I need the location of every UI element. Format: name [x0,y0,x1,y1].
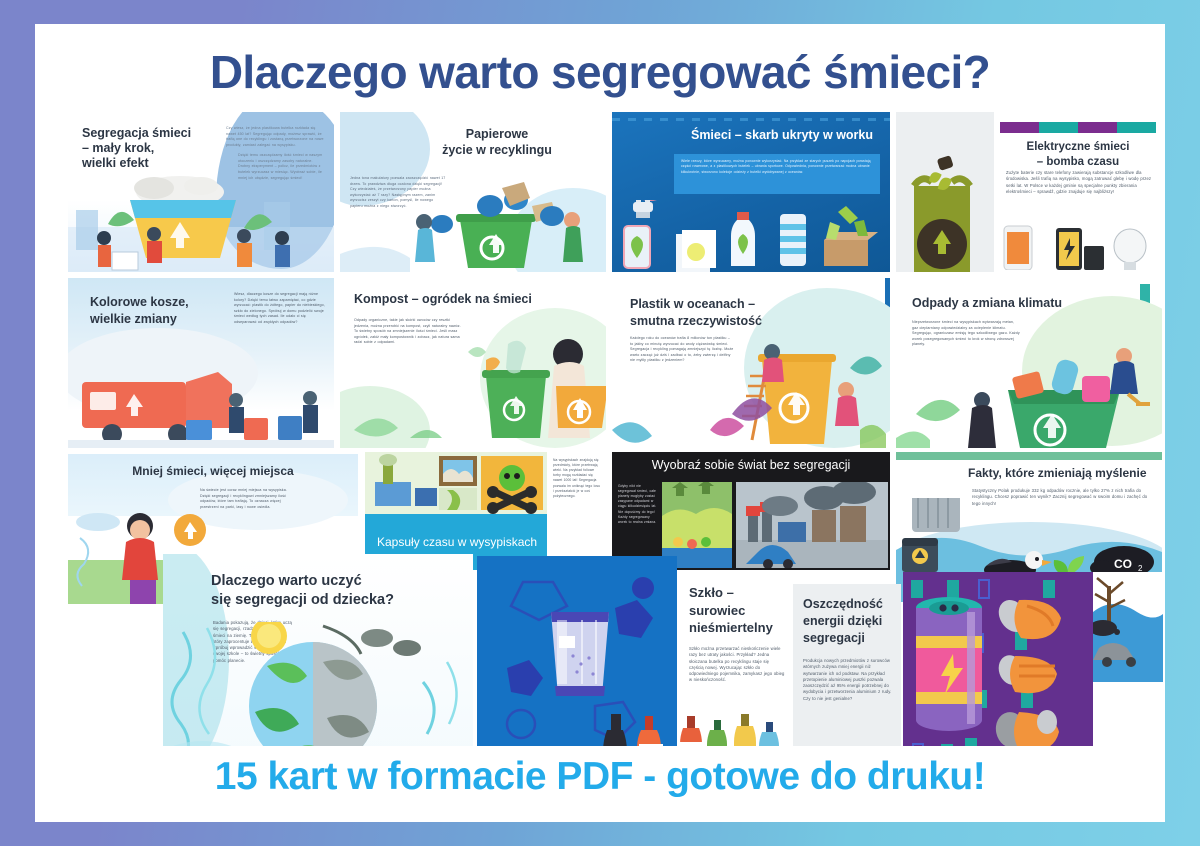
card-kolorowe-kosze[interactable]: Kolorowe kosze, wielkie zmiany Wiesz, dl… [68,278,334,448]
card-body: Gdyby nikt nie segregował śmieci, całe p… [618,484,658,525]
card-title: Oszczędność energii dzięki segregacji [803,596,897,647]
color-bar [1000,122,1156,133]
card-title: Wyobraź sobie świat bez segregacji [612,458,890,473]
card-wyobraz-swiat[interactable]: Wyobraź sobie świat bez segregacji Gdyby… [612,452,890,570]
garbage-truck-illustration [68,358,334,448]
card-title: Fakty, które zmieniają myślenie [968,466,1158,480]
card-dlaczego-dziecko[interactable]: Dlaczego warto uczyć się segregacji od d… [163,554,473,772]
card-plastik-oceany[interactable]: Plastik w oceanach – smutna rzeczywistoś… [612,278,890,448]
climate-bin-illustration [896,342,1162,448]
card-body: Produkcja nowych przedmiotów z surowców … [803,658,895,702]
poster-footer: 15 kart w formacie PDF - gotowe do druku… [35,746,1165,808]
card-body: Szkło można przetwarzać nieskończenie wi… [689,646,785,684]
card-body: Wiesz, dlaczego kosze do segregacji mają… [234,292,328,325]
card-szklo-panel[interactable] [477,556,677,772]
card-elektryczne-smieci[interactable]: Elektryczne śmieci – bomba czasu Zużyte … [896,112,1162,272]
bag-bulbs-illustration [896,152,994,272]
polluted-landscape [1093,572,1163,682]
card-kompost[interactable]: Kompost – ogródek na śmieci Odpady organ… [340,278,606,448]
card-title: Papierowe życie w recyklingu [402,126,592,159]
card-title: Śmieci – skarb ukryty w worku [682,128,882,143]
card-puszki-panel[interactable] [903,572,1093,772]
ocean-bin-illustration [612,338,890,448]
card-title: Segregacja śmieci – mały krok, wielki ef… [82,126,212,170]
pollution-icons [365,452,547,514]
cans-illustration [903,572,1093,772]
card-segregacja-smieci[interactable]: Segregacja śmieci – mały krok, wielki ef… [68,112,334,272]
card-title: Kolorowe kosze, wielkie zmiany [90,294,230,328]
pollution-scene [662,482,888,568]
recycling-icons [612,200,890,272]
card-kapsuly-czasu[interactable]: Kapsuły czasu w wysypiskach Na wysypiska… [365,452,605,570]
card-title: Odpady a zmiana klimatu [912,296,1122,311]
card-papierowe-zycie[interactable]: Papierowe życie w recyklingu Jedna tona … [340,112,606,272]
card-body: Na wysypiskach znajdują się przedmioty, … [553,458,601,499]
green-bin-illustration [340,176,606,272]
svg-text:CO: CO [1114,557,1132,571]
card-title: Dlaczego warto uczyć się segregacji od d… [211,572,461,610]
poster-header: Dlaczego warto segregować śmieci? [35,24,1165,120]
card-title: Mniej śmieci, więcej miejsca [68,464,358,478]
footer-banner-text: 15 kart w formacie PDF - gotowe do druku… [215,755,985,799]
card-body: Na świecie jest coraz mniej miejsca na w… [200,488,294,510]
bin-illustration [68,172,334,272]
card-tree-car-strip [1093,572,1163,682]
card-odpady-klimat[interactable]: Odpady a zmiana klimatu Nieprzetworzone … [896,278,1162,448]
page-title: Dlaczego warto segregować śmieci? [210,45,990,99]
card-body: Zużyte baterie czy stare telefony zawier… [1006,170,1152,195]
card-title: Kapsuły czasu w wysypiskach [377,535,537,549]
card-oszczednosc-energii[interactable]: Oszczędność energii dzięki segregacji Pr… [793,584,901,772]
card-title: Elektryczne śmieci – bomba czasu [1000,140,1156,170]
card-szklo-tekst[interactable]: Szkło – surowiec nieśmiertelny Szkło moż… [679,570,791,772]
card-smieci-skarb[interactable]: Śmieci – skarb ukryty w worku Wiele rzec… [612,112,890,272]
compost-illustration [340,338,606,448]
card-title: Szkło – surowiec nieśmiertelny [689,584,787,637]
card-title: Kompost – ogródek na śmieci [354,292,594,307]
device-icons [1000,224,1156,270]
card-title: Plastik w oceanach – smutna rzeczywistoś… [630,296,840,330]
glass-illustration [477,556,677,772]
poster-sheet: Dlaczego warto segregować śmieci? Segreg… [35,24,1165,822]
card-body: Wiele rzeczy, które wyrzucamy, można pon… [674,154,880,194]
